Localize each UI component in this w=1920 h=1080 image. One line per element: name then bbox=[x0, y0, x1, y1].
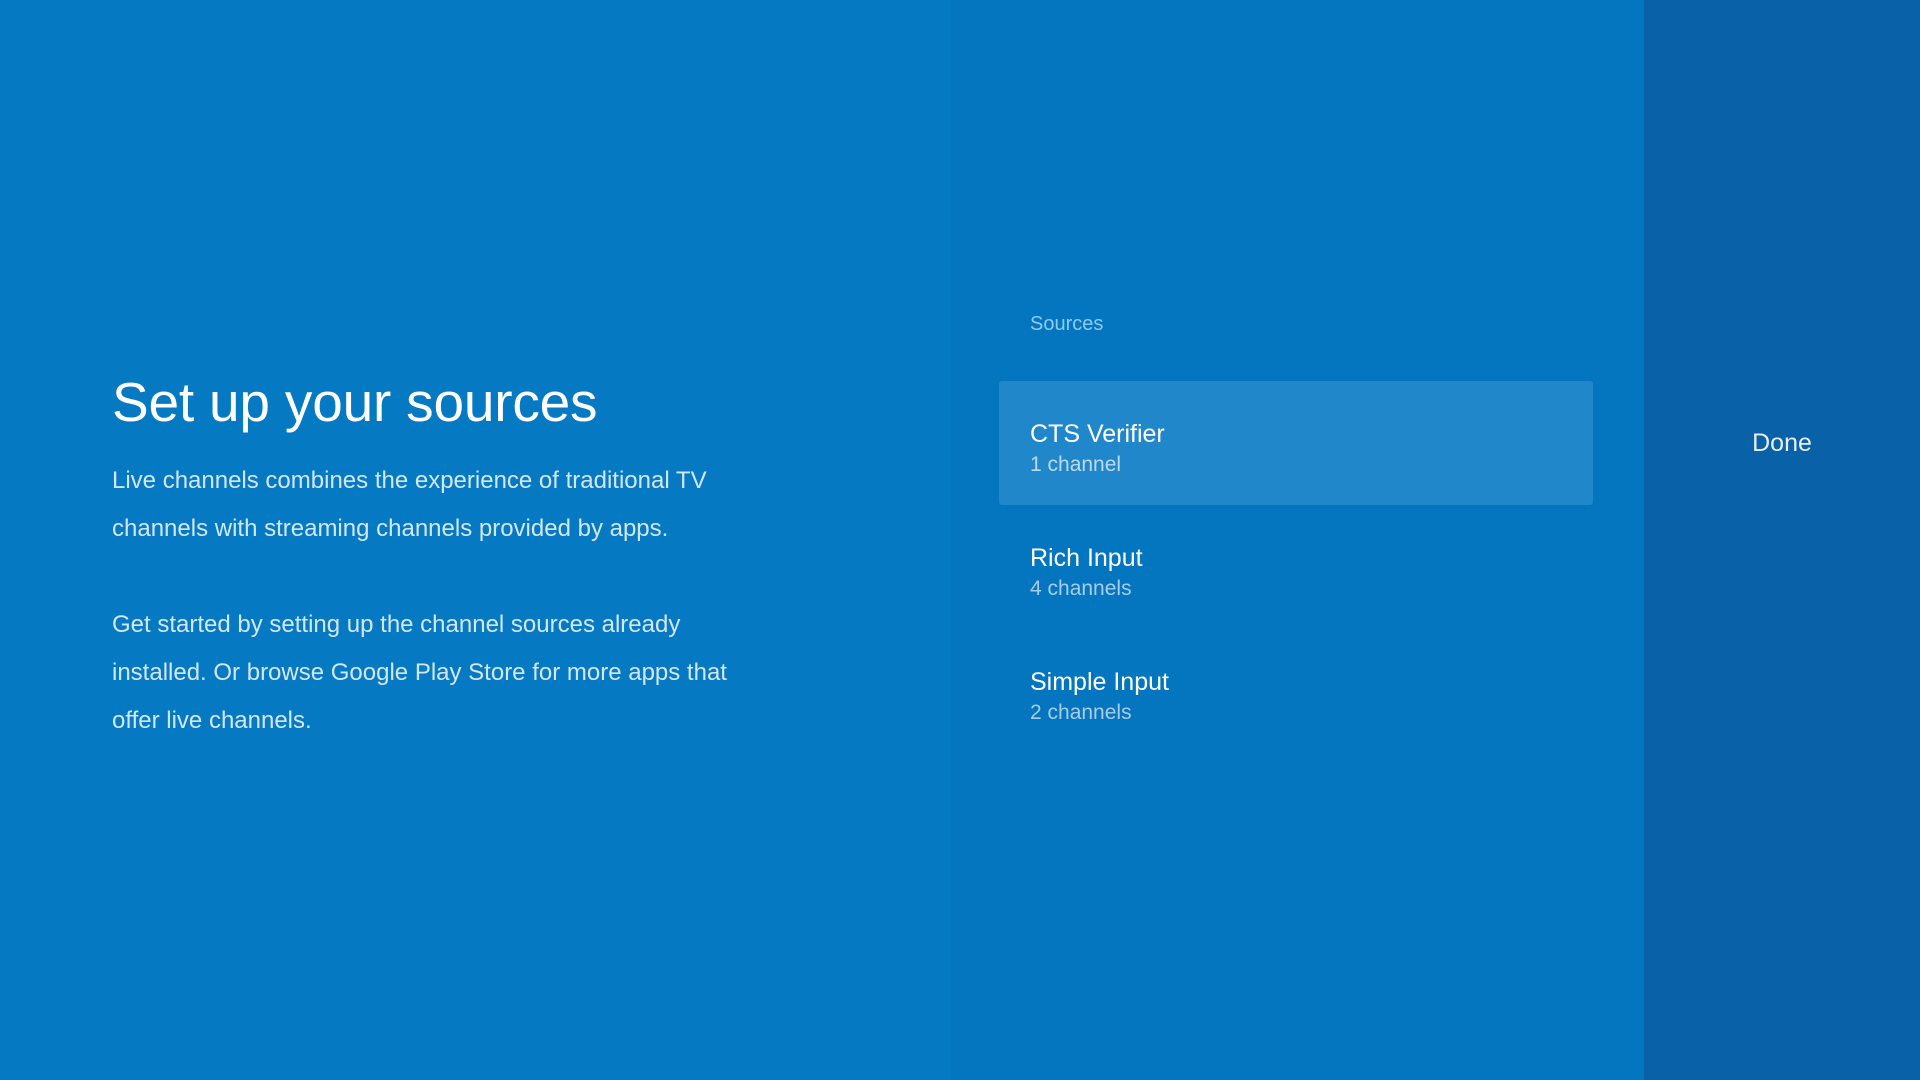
done-button-label: Done bbox=[1752, 428, 1812, 458]
intro-panel: Set up your sources Live channels combin… bbox=[0, 0, 951, 1080]
done-button[interactable]: Done bbox=[1644, 381, 1920, 505]
list-item[interactable]: CTS Verifier 1 channel bbox=[999, 381, 1593, 505]
list-item[interactable]: Simple Input 2 channels bbox=[999, 629, 1593, 753]
source-channel-count: 4 channels bbox=[1030, 576, 1593, 602]
sources-list: CTS Verifier 1 channel Rich Input 4 chan… bbox=[951, 381, 1644, 753]
intro-content: Set up your sources Live channels combin… bbox=[112, 371, 912, 745]
setup-sources-screen: Set up your sources Live channels combin… bbox=[0, 0, 1920, 1080]
source-name: Simple Input bbox=[1030, 667, 1593, 697]
source-channel-count: 1 channel bbox=[1030, 452, 1593, 478]
sources-section-header: Sources bbox=[1030, 312, 1103, 336]
sources-panel: Sources CTS Verifier 1 channel Rich Inpu… bbox=[951, 0, 1644, 1080]
intro-paragraph-1: Live channels combines the experience of… bbox=[112, 457, 752, 553]
page-title: Set up your sources bbox=[112, 371, 912, 433]
intro-paragraph-2: Get started by setting up the channel so… bbox=[112, 601, 752, 745]
actions-panel: Done bbox=[1644, 0, 1920, 1080]
source-channel-count: 2 channels bbox=[1030, 700, 1593, 726]
source-name: CTS Verifier bbox=[1030, 419, 1593, 449]
list-item[interactable]: Rich Input 4 channels bbox=[999, 505, 1593, 629]
source-name: Rich Input bbox=[1030, 543, 1593, 573]
